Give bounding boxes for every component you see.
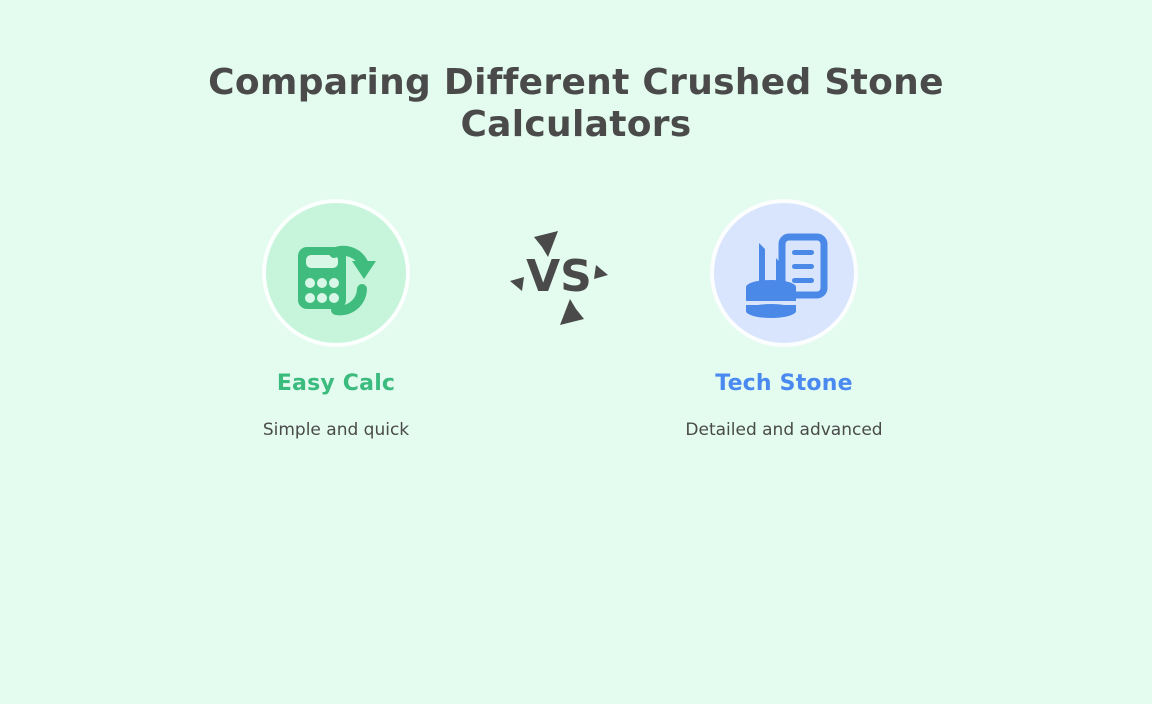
- versus-label: VS: [526, 251, 592, 302]
- page-title-line-1: Comparing Different Crushed Stone: [0, 62, 1152, 104]
- page-title-line-2: Calculators: [0, 104, 1152, 146]
- page-title: Comparing Different Crushed Stone Calcul…: [0, 62, 1152, 146]
- versus-badge: VS: [504, 223, 614, 333]
- comparison-option-tech-stone[interactable]: Tech Stone Detailed and advanced: [634, 199, 934, 441]
- option-description-tech-stone: Detailed and advanced: [634, 419, 934, 441]
- icon-circle-tech-stone: [710, 199, 858, 347]
- option-name-easy-calc: Easy Calc: [186, 371, 486, 397]
- option-name-tech-stone: Tech Stone: [634, 371, 934, 397]
- comparison-slide: Comparing Different Crushed Stone Calcul…: [0, 0, 1152, 704]
- option-description-easy-calc: Simple and quick: [186, 419, 486, 441]
- comparison-option-easy-calc[interactable]: Easy Calc Simple and quick: [186, 199, 486, 441]
- calculator-refresh-icon: [290, 227, 382, 319]
- comparison-row: Easy Calc Simple and quick VS: [0, 199, 1152, 469]
- pen-holder-document-icon: [738, 227, 830, 319]
- icon-circle-easy-calc: [262, 199, 410, 347]
